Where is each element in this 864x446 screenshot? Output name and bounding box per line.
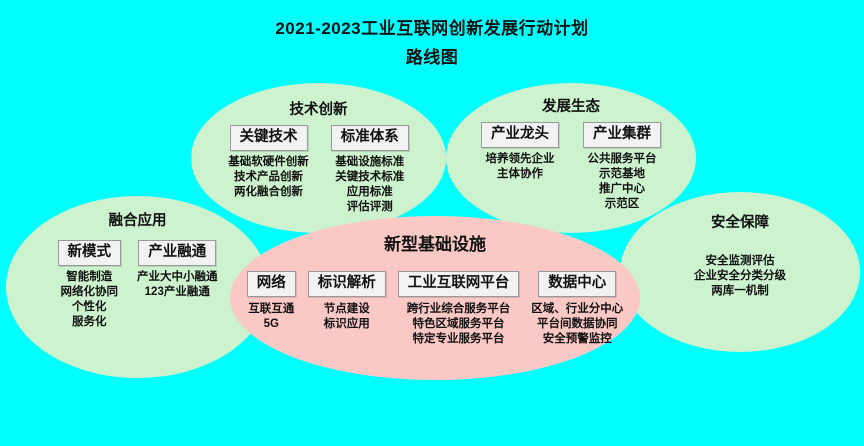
list-item: 特色区域服务平台: [407, 317, 511, 332]
chip-network[interactable]: 网络: [247, 271, 296, 297]
list-item: 安全预警监控: [531, 332, 623, 347]
subgroup-industry-integration: 产业融通 产业大中小融通 123产业融通: [137, 240, 218, 330]
list-item: 公共服务平台: [588, 152, 657, 167]
list-item: 个性化: [61, 300, 119, 315]
subgroup-key-technology: 关键技术 基础软硬件创新 技术产品创新 两化融合创新: [228, 125, 309, 215]
sublist-industry-integration: 产业大中小融通 123产业融通: [137, 270, 218, 300]
group-title-dev-ecosystem: 发展生态: [446, 95, 696, 116]
list-item: 5G: [248, 317, 294, 332]
list-item: 两库一机制: [620, 284, 860, 299]
chip-data-center[interactable]: 数据中心: [538, 271, 616, 297]
chip-standard-system[interactable]: 标准体系: [331, 125, 409, 151]
list-item: 技术产品创新: [228, 170, 309, 185]
list-item: 关键技术标准: [335, 170, 404, 185]
subgroup-data-center: 数据中心 区域、行业分中心 平台间数据协同 安全预警监控: [531, 271, 623, 347]
group-title-tech-innovation: 技术创新: [191, 98, 446, 119]
list-item: 推广中心: [588, 182, 657, 197]
sublist-industry-cluster: 公共服务平台 示范基地 推广中心 示范区: [588, 152, 657, 212]
list-item: 节点建设: [324, 302, 370, 317]
list-item: 培养领先企业: [486, 152, 555, 167]
chip-identifier-resolution[interactable]: 标识解析: [308, 271, 386, 297]
sublist-data-center: 区域、行业分中心 平台间数据协同 安全预警监控: [531, 302, 623, 347]
subgroup-industry-cluster: 产业集群 公共服务平台 示范基地 推广中心 示范区: [583, 122, 661, 212]
list-item: 特定专业服务平台: [407, 332, 511, 347]
page-title-line-2: 路线图: [0, 43, 864, 72]
group-security-assurance: 安全保障 安全监测评估 企业安全分类分级 两库一机制: [620, 211, 860, 299]
sublist-new-model: 智能制造 网络化协同 个性化 服务化: [61, 270, 119, 330]
sublist-industry-leader: 培养领先企业 主体协作: [486, 152, 555, 182]
group-new-infrastructure: 新型基础设施 网络 互联互通 5G 标识解析 节点建设 标识应用 工业互联网平台: [230, 230, 640, 347]
list-item: 网络化协同: [61, 285, 119, 300]
list-item: 示范区: [588, 197, 657, 212]
list-item: 应用标准: [335, 185, 404, 200]
chip-new-model[interactable]: 新模式: [58, 240, 122, 266]
roadmap-diagram: 2021-2023工业互联网创新发展行动计划 路线图 技术创新 关键技术 基础软…: [0, 0, 864, 446]
subgroup-new-model: 新模式 智能制造 网络化协同 个性化 服务化: [58, 240, 122, 330]
list-item: 产业大中小融通: [137, 270, 218, 285]
sublist-security-assurance: 安全监测评估 企业安全分类分级 两库一机制: [620, 254, 860, 299]
page-title-line-1: 2021-2023工业互联网创新发展行动计划: [0, 14, 864, 43]
page-title: 2021-2023工业互联网创新发展行动计划 路线图: [0, 14, 864, 72]
list-item: 示范基地: [588, 167, 657, 182]
sublist-network: 互联互通 5G: [248, 302, 294, 332]
list-item: 服务化: [61, 315, 119, 330]
group-title-security-assurance: 安全保障: [620, 211, 860, 232]
chip-industry-leader[interactable]: 产业龙头: [481, 122, 559, 148]
list-item: 跨行业综合服务平台: [407, 302, 511, 317]
chip-industry-cluster[interactable]: 产业集群: [583, 122, 661, 148]
subgroup-standard-system: 标准体系 基础设施标准 关键技术标准 应用标准 评估评测: [331, 125, 409, 215]
list-item: 标识应用: [324, 317, 370, 332]
list-item: 企业安全分类分级: [620, 269, 860, 284]
subgroup-industrial-internet-platform: 工业互联网平台 跨行业综合服务平台 特色区域服务平台 特定专业服务平台: [398, 271, 520, 347]
subgroup-network: 网络 互联互通 5G: [247, 271, 296, 332]
list-item: 123产业融通: [137, 285, 218, 300]
list-item: 评估评测: [335, 200, 404, 215]
list-item: 平台间数据协同: [531, 317, 623, 332]
group-dev-ecosystem: 发展生态 产业龙头 培养领先企业 主体协作 产业集群 公共服务平台 示范基地 推…: [446, 95, 696, 212]
sublist-industrial-internet-platform: 跨行业综合服务平台 特色区域服务平台 特定专业服务平台: [407, 302, 511, 347]
list-item: 智能制造: [61, 270, 119, 285]
group-tech-innovation: 技术创新 关键技术 基础软硬件创新 技术产品创新 两化融合创新 标准体系 基础设…: [191, 98, 446, 215]
list-item: 区域、行业分中心: [531, 302, 623, 317]
list-item: 主体协作: [486, 167, 555, 182]
list-item: 基础设施标准: [335, 155, 404, 170]
group-title-fusion-application: 融合应用: [6, 209, 269, 230]
subgroup-identifier-resolution: 标识解析 节点建设 标识应用: [308, 271, 386, 332]
list-item: 互联互通: [248, 302, 294, 317]
chip-industry-integration[interactable]: 产业融通: [138, 240, 216, 266]
list-item: 两化融合创新: [228, 185, 309, 200]
subgroup-industry-leader: 产业龙头 培养领先企业 主体协作: [481, 122, 559, 212]
chip-industrial-internet-platform[interactable]: 工业互联网平台: [398, 271, 520, 297]
list-item: 基础软硬件创新: [228, 155, 309, 170]
list-item: 安全监测评估: [620, 254, 860, 269]
chip-key-technology[interactable]: 关键技术: [230, 125, 308, 151]
group-title-new-infrastructure: 新型基础设施: [230, 230, 640, 255]
sublist-key-technology: 基础软硬件创新 技术产品创新 两化融合创新: [228, 155, 309, 200]
sublist-identifier-resolution: 节点建设 标识应用: [324, 302, 370, 332]
sublist-standard-system: 基础设施标准 关键技术标准 应用标准 评估评测: [335, 155, 404, 215]
